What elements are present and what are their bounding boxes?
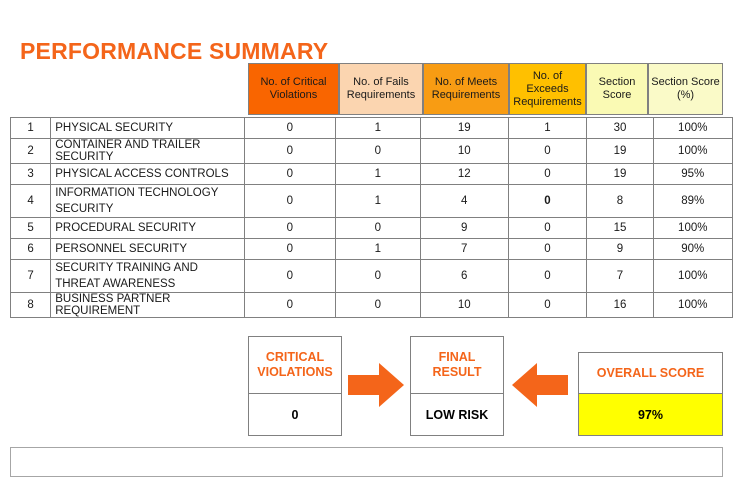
table-row: 3 PHYSICAL ACCESS CONTROLS 0 1 12 0 19 9… — [11, 164, 733, 185]
row-number: 7 — [11, 260, 51, 293]
table-row: 2 CONTAINER AND TRAILER SECURITY 0 0 10 … — [11, 139, 733, 164]
row-section-score: 16 — [587, 293, 653, 318]
row-section-score-pct: 100% — [653, 218, 732, 239]
row-section-name: SECURITY TRAINING AND THREAT AWARENESS — [51, 260, 245, 293]
row-exceeds: 0 — [508, 218, 587, 239]
row-critical-violations: 0 — [245, 260, 336, 293]
row-fails: 1 — [335, 239, 420, 260]
row-fails: 0 — [335, 139, 420, 164]
row-number: 8 — [11, 293, 51, 318]
table-row: 8 BUSINESS PARTNER REQUIREMENT 0 0 10 0 … — [11, 293, 733, 318]
row-fails: 1 — [335, 118, 420, 139]
final-result-label: FINAL RESULT — [410, 336, 504, 394]
critical-violations-label: CRITICAL VIOLATIONS — [248, 336, 342, 394]
table-row: 4 INFORMATION TECHNOLOGY SECURITY 0 1 4 … — [11, 185, 733, 218]
row-section-score: 8 — [587, 185, 653, 218]
row-exceeds: 0 — [508, 260, 587, 293]
row-number: 2 — [11, 139, 51, 164]
table-row: 6 PERSONNEL SECURITY 0 1 7 0 9 90% — [11, 239, 733, 260]
row-critical-violations: 0 — [245, 239, 336, 260]
row-section-score-pct: 100% — [653, 293, 732, 318]
row-section-name: CONTAINER AND TRAILER SECURITY — [51, 139, 245, 164]
row-critical-violations: 0 — [245, 293, 336, 318]
row-fails: 1 — [335, 185, 420, 218]
row-section-name: PHYSICAL ACCESS CONTROLS — [51, 164, 245, 185]
overall-score-value: 97% — [578, 394, 723, 436]
performance-summary-page: PERFORMANCE SUMMARY No. of Critical Viol… — [0, 0, 733, 458]
row-section-name: PHYSICAL SECURITY — [51, 118, 245, 139]
row-fails: 0 — [335, 260, 420, 293]
row-number: 1 — [11, 118, 51, 139]
row-section-score-pct: 100% — [653, 139, 732, 164]
row-meets: 4 — [420, 185, 508, 218]
row-number: 5 — [11, 218, 51, 239]
row-number: 6 — [11, 239, 51, 260]
row-exceeds: 0 — [508, 293, 587, 318]
row-meets: 10 — [420, 293, 508, 318]
row-fails: 0 — [335, 293, 420, 318]
row-exceeds: 0 — [508, 239, 587, 260]
arrow-right-icon — [348, 362, 404, 408]
overall-score-label: OVERALL SCORE — [578, 352, 723, 394]
row-exceeds: 0 — [508, 185, 587, 218]
row-section-name: PROCEDURAL SECURITY — [51, 218, 245, 239]
row-meets: 6 — [420, 260, 508, 293]
row-meets: 10 — [420, 139, 508, 164]
row-meets: 12 — [420, 164, 508, 185]
row-section-score-pct: 100% — [653, 118, 732, 139]
performance-table: 1 PHYSICAL SECURITY 0 1 19 1 30 100% 2 C… — [10, 117, 733, 318]
row-section-score: 19 — [587, 139, 653, 164]
header-meets-requirements: No. of Meets Requirements — [423, 63, 509, 115]
arrow-left-icon — [512, 362, 568, 408]
row-section-score: 19 — [587, 164, 653, 185]
row-section-score: 9 — [587, 239, 653, 260]
row-number: 4 — [11, 185, 51, 218]
row-section-score-pct: 89% — [653, 185, 732, 218]
row-section-name: BUSINESS PARTNER REQUIREMENT — [51, 293, 245, 318]
footer-panel — [10, 447, 723, 477]
row-fails: 0 — [335, 218, 420, 239]
row-critical-violations: 0 — [245, 118, 336, 139]
final-result-box: FINAL RESULT LOW RISK — [410, 336, 504, 436]
row-critical-violations: 0 — [245, 164, 336, 185]
row-fails: 1 — [335, 164, 420, 185]
header-section-score-pct: Section Score (%) — [648, 63, 723, 115]
row-section-score: 7 — [587, 260, 653, 293]
final-result-value: LOW RISK — [410, 394, 504, 436]
row-exceeds: 0 — [508, 139, 587, 164]
row-section-score-pct: 90% — [653, 239, 732, 260]
row-meets: 19 — [420, 118, 508, 139]
row-meets: 9 — [420, 218, 508, 239]
row-exceeds: 1 — [508, 118, 587, 139]
table-row: 5 PROCEDURAL SECURITY 0 0 9 0 15 100% — [11, 218, 733, 239]
row-exceeds: 0 — [508, 164, 587, 185]
row-section-score-pct: 100% — [653, 260, 732, 293]
header-exceeds-requirements: No. of Exceeds Requirements — [509, 63, 586, 115]
table-header-band: No. of Critical Violations No. of Fails … — [248, 63, 723, 115]
row-critical-violations: 0 — [245, 218, 336, 239]
critical-violations-value: 0 — [248, 394, 342, 436]
header-fails-requirements: No. of Fails Requirements — [339, 63, 423, 115]
row-section-score: 30 — [587, 118, 653, 139]
header-critical-violations: No. of Critical Violations — [248, 63, 339, 115]
row-critical-violations: 0 — [245, 139, 336, 164]
table-row: 7 SECURITY TRAINING AND THREAT AWARENESS… — [11, 260, 733, 293]
row-section-score: 15 — [587, 218, 653, 239]
row-section-name: INFORMATION TECHNOLOGY SECURITY — [51, 185, 245, 218]
page-title: PERFORMANCE SUMMARY — [20, 38, 328, 65]
header-section-score: Section Score — [586, 63, 648, 115]
row-critical-violations: 0 — [245, 185, 336, 218]
row-section-score-pct: 95% — [653, 164, 732, 185]
row-number: 3 — [11, 164, 51, 185]
table-row: 1 PHYSICAL SECURITY 0 1 19 1 30 100% — [11, 118, 733, 139]
overall-score-box: OVERALL SCORE 97% — [578, 352, 723, 436]
row-meets: 7 — [420, 239, 508, 260]
critical-violations-box: CRITICAL VIOLATIONS 0 — [248, 336, 342, 436]
row-section-name: PERSONNEL SECURITY — [51, 239, 245, 260]
